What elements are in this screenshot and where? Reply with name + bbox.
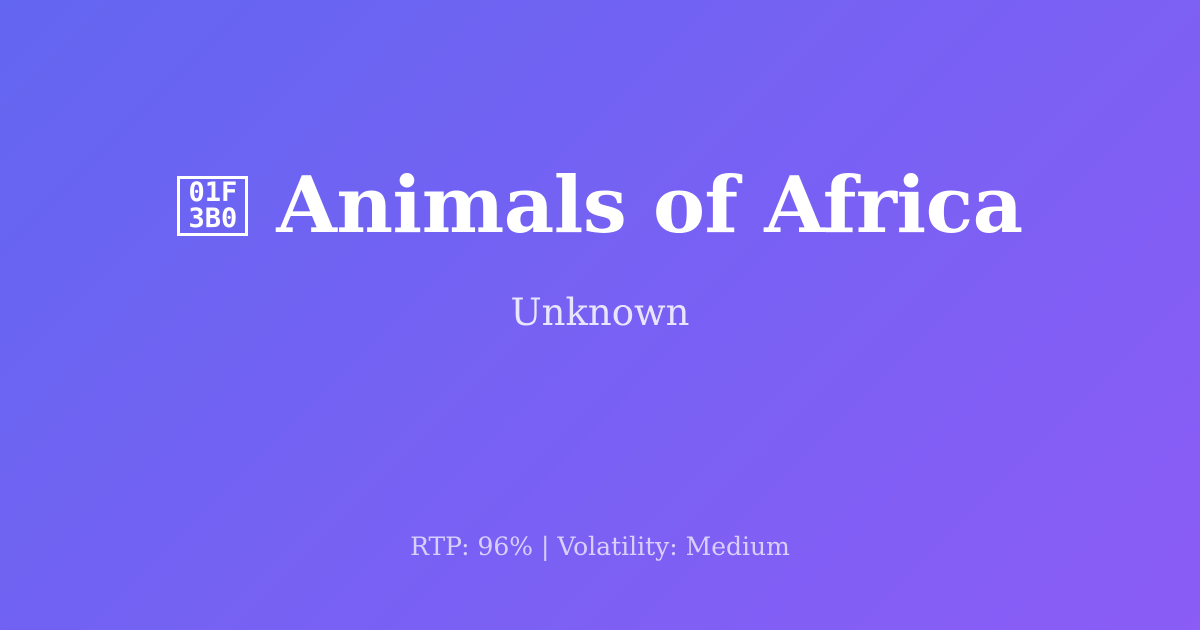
tofu-codepoint-line-1: 01F xyxy=(188,180,237,206)
open-graph-card: 01F 3B0 Animals of Africa Unknown RTP: 9… xyxy=(0,0,1200,630)
game-stats-line: RTP: 96% | Volatility: Medium xyxy=(0,532,1200,562)
page-title: Animals of Africa xyxy=(276,167,1022,245)
title-row: 01F 3B0 Animals of Africa xyxy=(0,167,1200,245)
slot-machine-icon: 01F 3B0 xyxy=(177,176,248,236)
card-subtitle: Unknown xyxy=(510,293,689,334)
tofu-codepoint-line-2: 3B0 xyxy=(188,206,237,232)
card-hero: 01F 3B0 Animals of Africa Unknown xyxy=(0,0,1200,500)
